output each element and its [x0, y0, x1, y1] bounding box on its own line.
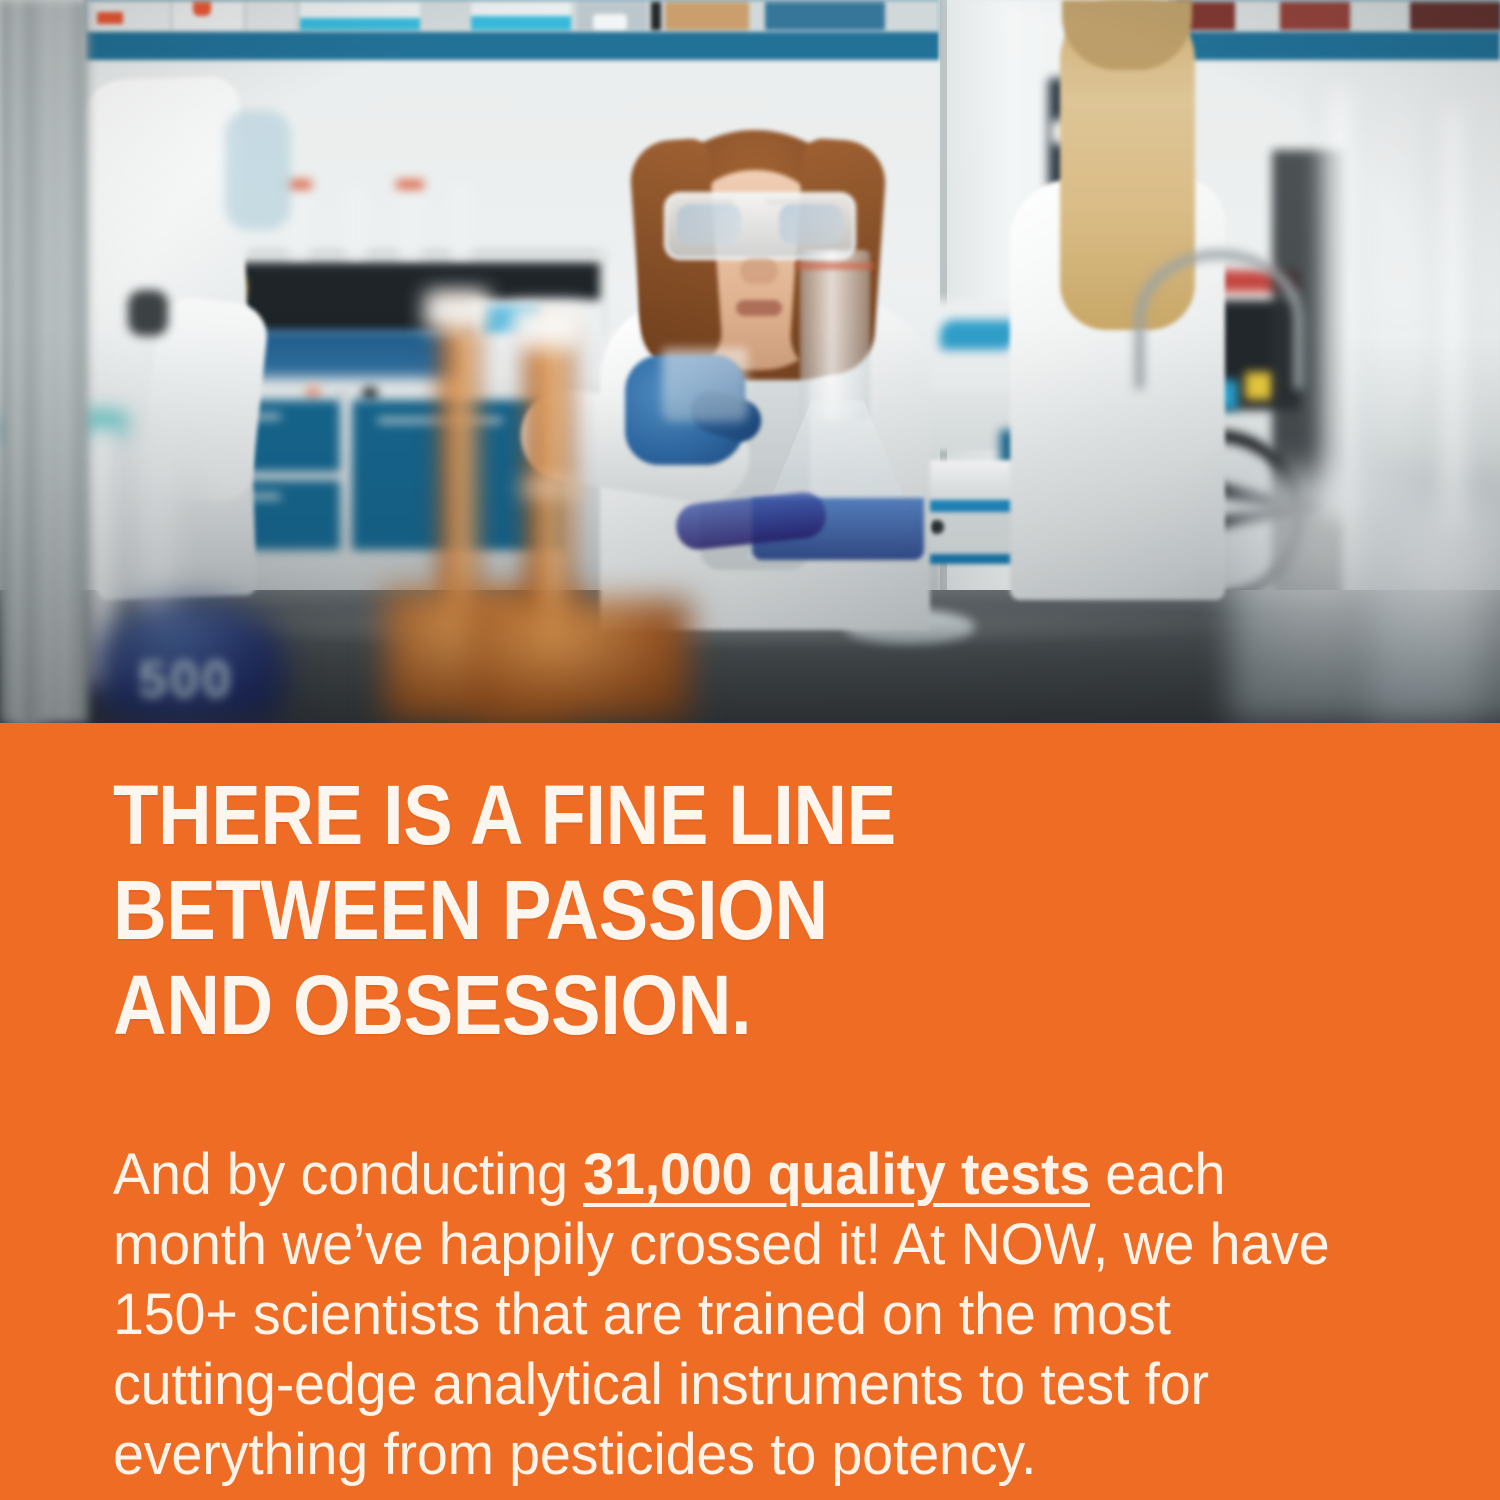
- body-copy-before: And by conducting: [113, 1142, 583, 1207]
- headline: THERE IS A FINE LINE BETWEEN PASSION AND…: [113, 768, 896, 1053]
- quality-tests-emphasis: 31,000 quality tests: [583, 1142, 1090, 1207]
- laboratory-photo: 500: [0, 0, 1500, 723]
- photo-vignette: [0, 0, 1500, 723]
- body-copy: And by conducting 31,000 quality tests e…: [113, 1140, 1351, 1490]
- promo-poster: 500 THERE IS A FINE LINE BETWEEN PASSION…: [0, 0, 1500, 1500]
